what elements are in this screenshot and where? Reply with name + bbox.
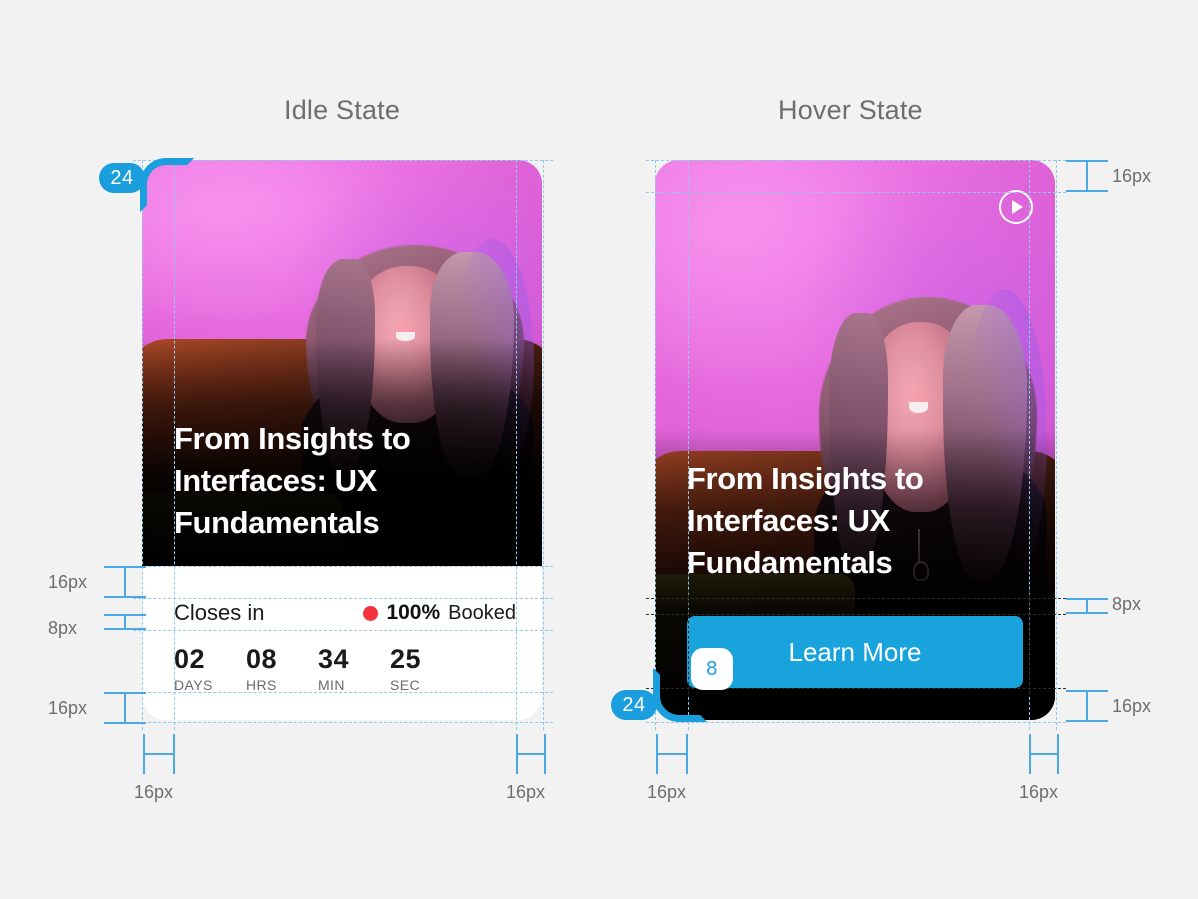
guide-idle-card-bottom bbox=[133, 722, 553, 723]
play-triangle-icon bbox=[1012, 200, 1023, 214]
countdown-unit: MIN bbox=[318, 677, 368, 693]
section-title-idle: Idle State bbox=[284, 95, 400, 126]
measure-idle-top-gap bbox=[104, 566, 146, 598]
countdown-value: 34 bbox=[318, 644, 368, 675]
measure-label-idle-pad-left: 16px bbox=[134, 782, 173, 803]
card-title: From Insights to Interfaces: UX Fundamen… bbox=[174, 418, 514, 544]
countdown-value: 02 bbox=[174, 644, 224, 675]
measure-label-hover-top: 16px bbox=[1112, 166, 1151, 187]
measure-label-idle-mid: 8px bbox=[48, 618, 77, 639]
measure-hover-top-gap bbox=[1066, 160, 1108, 192]
countdown-cell: 34 MIN bbox=[318, 644, 368, 693]
card-media-hover: From Insights to Interfaces: UX Fundamen… bbox=[655, 160, 1055, 720]
measure-hover-bottom-gap bbox=[1066, 690, 1108, 722]
countdown-cell: 25 SEC bbox=[390, 644, 440, 693]
status-dot-icon bbox=[363, 606, 378, 621]
countdown-value: 25 bbox=[390, 644, 440, 675]
radius-badge-hover: 24 bbox=[611, 690, 657, 720]
countdown-timer: 02 DAYS 08 HRS 34 MIN 25 SEC bbox=[174, 644, 440, 693]
measure-idle-padding-left bbox=[143, 734, 175, 774]
guide-hover-card-bottom bbox=[646, 722, 1066, 723]
measure-label-hover-pad-left: 16px bbox=[647, 782, 686, 803]
section-title-hover: Hover State bbox=[778, 95, 923, 126]
guide-hover-card-right bbox=[1056, 160, 1057, 730]
measure-idle-bottom-gap bbox=[104, 692, 146, 724]
booked-percent: 100% bbox=[386, 601, 440, 625]
play-circle-icon[interactable] bbox=[999, 190, 1033, 224]
countdown-unit: SEC bbox=[390, 677, 440, 693]
countdown-cell: 02 DAYS bbox=[174, 644, 224, 693]
card-meta-row: Closes in 100% Booked bbox=[174, 600, 516, 626]
measure-label-idle-bottom: 16px bbox=[48, 698, 87, 719]
booked-group: 100% Booked bbox=[363, 601, 516, 625]
countdown-unit: HRS bbox=[246, 677, 296, 693]
learn-more-button[interactable]: Learn More bbox=[687, 616, 1023, 688]
closes-in-label: Closes in bbox=[174, 600, 264, 626]
card-media-idle: From Insights to Interfaces: UX Fundamen… bbox=[142, 160, 542, 566]
guide-idle-card-right bbox=[543, 160, 544, 730]
radius-badge-idle: 24 bbox=[99, 163, 145, 193]
course-card-idle[interactable]: From Insights to Interfaces: UX Fundamen… bbox=[142, 160, 542, 720]
measure-idle-padding-right bbox=[516, 734, 546, 774]
measure-hover-padding-right bbox=[1029, 734, 1059, 774]
course-card-hover[interactable]: From Insights to Interfaces: UX Fundamen… bbox=[655, 160, 1055, 720]
measure-idle-mid-gap bbox=[104, 614, 146, 630]
booked-label: Booked bbox=[448, 602, 516, 625]
countdown-cell: 08 HRS bbox=[246, 644, 296, 693]
radius-badge-button: 8 bbox=[694, 651, 730, 687]
measure-label-hover-mid: 8px bbox=[1112, 594, 1141, 615]
measure-label-hover-pad-right: 16px bbox=[1019, 782, 1058, 803]
card-footer: Closes in 100% Booked 02 DAYS 08 HRS 34 bbox=[142, 566, 542, 720]
redline-spec-canvas: Idle State Hover State bbox=[0, 0, 1198, 899]
measure-label-idle-top: 16px bbox=[48, 572, 87, 593]
measure-hover-mid-gap bbox=[1066, 598, 1108, 614]
measure-label-hover-bottom: 16px bbox=[1112, 696, 1151, 717]
measure-label-idle-pad-right: 16px bbox=[506, 782, 545, 803]
countdown-unit: DAYS bbox=[174, 677, 224, 693]
card-title: From Insights to Interfaces: UX Fundamen… bbox=[687, 458, 1027, 584]
measure-hover-padding-left bbox=[656, 734, 688, 774]
countdown-value: 08 bbox=[246, 644, 296, 675]
